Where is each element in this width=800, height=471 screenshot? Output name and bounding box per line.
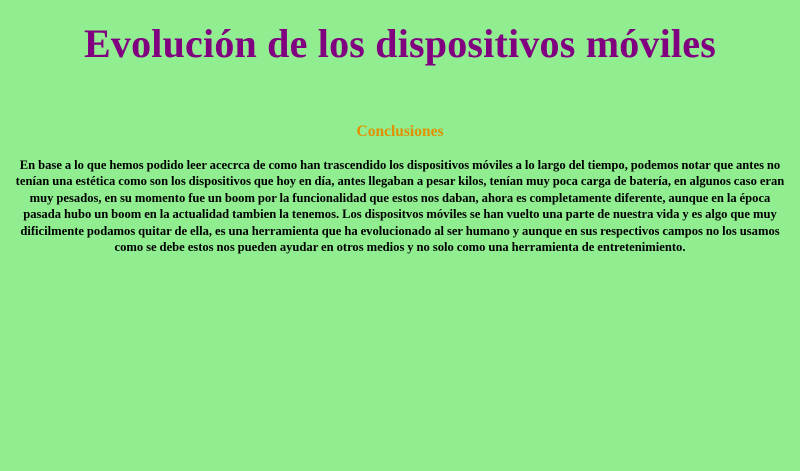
conclusions-paragraph: En base a lo que hemos podido leer acecr… [8, 157, 792, 255]
page-title: Evolución de los dispositivos móviles [8, 21, 792, 67]
page-container: Evolución de los dispositivos móviles Co… [0, 21, 800, 471]
section-heading-conclusiones: Conclusiones [8, 123, 792, 141]
